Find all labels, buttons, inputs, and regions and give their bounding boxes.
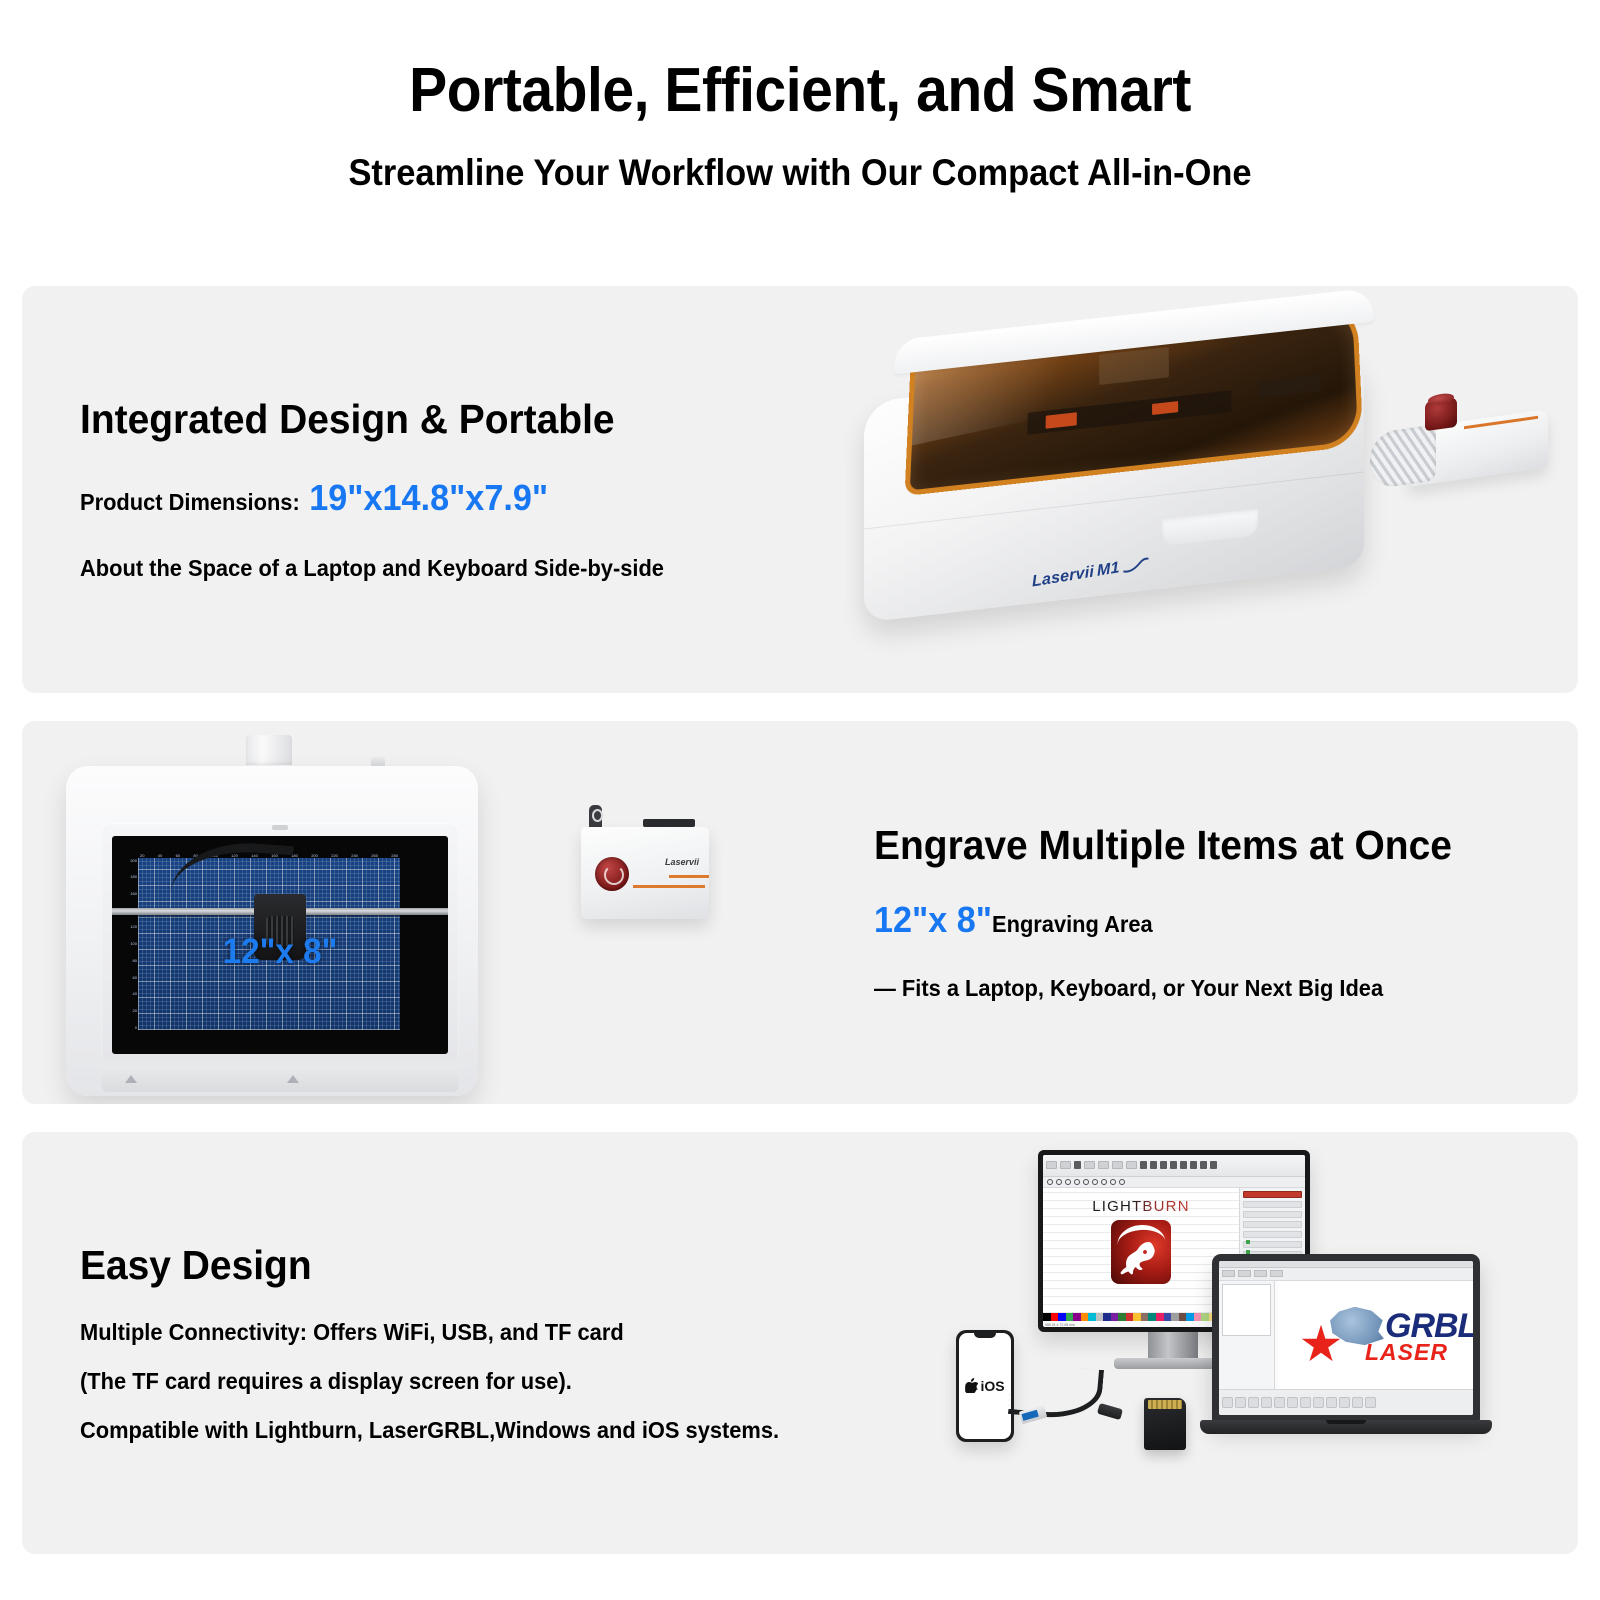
air-assist-accessory-image [1370,391,1556,507]
control-box-top-tab [643,819,695,827]
engrave-text-column: Engrave Multiple Items at Once 12"x 8" E… [874,822,1574,1002]
lightburn-toolbar [1043,1155,1305,1177]
laptop-trackpad-notch [1326,1420,1366,1424]
lightburn-status-text: 980.01 x 72.08 mm [1045,1323,1075,1327]
brand-model-text: M1 [1097,559,1121,581]
control-box-accessory-image: Laservii [567,799,727,949]
laser-head-cable [170,838,294,902]
easy-design-title: Easy Design [80,1242,861,1289]
jog-button [1365,1397,1376,1408]
control-box-orange-stripe [633,885,705,888]
air-assist-red-knob [1425,396,1457,430]
lasergrbl-logo: GRBL LASER [1301,1303,1451,1367]
lightburn-dragon-logo [1111,1220,1171,1284]
usb-c-connector-icon [1097,1403,1123,1420]
ellipse-icon [1074,1179,1080,1185]
software-compatibility-image: LIGHTBURN [948,1150,1548,1540]
laser-engraver-isometric-image: Laservii M1 [836,314,1396,614]
tf-card-icon [1144,1398,1186,1450]
product-dimensions-value: 19"x14.8"x7.9" [309,477,548,519]
ruler-tick: 160 [130,891,137,896]
lasergrbl-toolbar [1219,1268,1473,1281]
control-box-brand-text: Laservii [665,857,699,867]
jog-button [1274,1397,1285,1408]
feature-card-list: Integrated Design & Portable Product Dim… [0,286,1600,1554]
lasergrbl-screen: GRBL LASER [1219,1261,1473,1415]
engraver-lid-latch [272,825,288,830]
ruler-tick: 40 [133,991,137,996]
jog-button [1287,1397,1298,1408]
ruler-tick: 0 [135,1025,137,1030]
page-subtitle: Streamline Your Workflow with Our Compac… [56,152,1544,194]
engraving-area-overlay-label: 12"x 8" [120,932,439,972]
pointer-icon [1047,1179,1053,1185]
rectangle-icon [1065,1179,1071,1185]
monitor-neck [1148,1332,1198,1358]
jog-button [1313,1397,1324,1408]
portable-title: Integrated Design & Portable [80,396,747,443]
ruler-tick: 220 [331,853,338,858]
ruler-tick: 120 [130,924,137,929]
laser-wordmark: LASER [1365,1339,1448,1366]
offset-icon [1110,1179,1116,1185]
ruler-tick: 40 [158,853,162,858]
ruler-tick: 200 [311,853,318,858]
product-dimensions-label: Product Dimensions: [80,489,300,516]
ruler-tick: 20 [140,853,144,858]
product-dimensions-row: Product Dimensions: 19"x14.8"x7.9" [80,477,747,519]
lightburn-wordmark: LIGHTBURN [1092,1198,1189,1215]
engraver-exhaust-port [246,735,292,765]
design-text-column: Easy Design Multiple Connectivity: Offer… [22,1242,902,1444]
engraving-area-row: 12"x 8" Engraving Area [874,899,1539,941]
lasergrbl-left-panel [1219,1281,1275,1389]
apple-icon [965,1378,978,1393]
jog-button [1235,1397,1246,1408]
jog-button [1339,1397,1350,1408]
ruler-tick: 200 [130,858,137,863]
emergency-stop-button-icon [595,857,629,891]
page-header: Portable, Efficient, and Smart Streamlin… [0,0,1600,194]
compatibility-line: Compatible with Lightburn, LaserGRBL,Win… [80,1417,861,1444]
ios-label: iOS [980,1378,1004,1394]
laptop: GRBL LASER [1200,1254,1492,1438]
polygon-icon [1083,1179,1089,1185]
boolean-icon [1119,1179,1125,1185]
feature-card-portable: Integrated Design & Portable Product Dim… [22,286,1578,693]
jog-button [1222,1397,1233,1408]
smartphone: iOS [956,1330,1014,1442]
brand-swoosh-icon [1122,556,1149,574]
jog-button [1326,1397,1337,1408]
engraver-front-panel [101,1066,459,1092]
engrave-note: — Fits a Laptop, Keyboard, or Your Next … [874,975,1539,1002]
control-box-hook [589,805,602,829]
control-box-body: Laservii [581,827,709,919]
engraver-interior-window: 20 40 60 80 100 120 140 160 180 200 220 … [112,836,448,1054]
line-icon [1056,1179,1062,1185]
air-assist-vent-grille [1370,424,1436,489]
engraving-area-label: Engraving Area [992,911,1153,938]
phone-screen: iOS [959,1333,1011,1439]
ruler-tick: 180 [130,874,137,879]
control-box-orange-stripe-upper [669,875,709,878]
tf-card-note-line: (The TF card requires a display screen f… [80,1368,861,1395]
node-edit-icon [1101,1179,1107,1185]
ruler-tick: 240 [351,853,358,858]
lasergrbl-canvas: GRBL LASER [1279,1281,1473,1389]
laptop-lid: GRBL LASER [1212,1254,1480,1422]
portable-text-column: Integrated Design & Portable Product Dim… [22,396,782,582]
engraver-front-shell: 20 40 60 80 100 120 140 160 180 200 220 … [66,766,478,1096]
portable-note: About the Space of a Laptop and Keyboard… [80,555,747,582]
lock-icon [1074,1161,1081,1169]
jog-button [1261,1397,1272,1408]
jog-button [1300,1397,1311,1408]
engrave-title: Engrave Multiple Items at Once [874,822,1539,869]
ruler-tick: 280 [391,853,398,858]
ruler-tick: 260 [371,853,378,858]
connectivity-line: Multiple Connectivity: Offers WiFi, USB,… [80,1319,861,1346]
text-icon [1092,1179,1098,1185]
page-title: Portable, Efficient, and Smart [64,58,1536,124]
ruler-tick: 60 [133,975,137,980]
engraving-area-value: 12"x 8" [874,899,992,941]
phone-notch [974,1333,996,1338]
dragon-icon [1119,1236,1163,1280]
feature-card-easy-design: Easy Design Multiple Connectivity: Offer… [22,1132,1578,1554]
jog-button [1248,1397,1259,1408]
jog-button [1352,1397,1363,1408]
lasergrbl-titlebar [1219,1261,1473,1268]
laser-engraver-front-view-image: 20 40 60 80 100 120 140 160 180 200 220 … [58,731,498,1091]
lasergrbl-jog-panel [1219,1389,1473,1415]
ruler-tick: 20 [133,1008,137,1013]
ruler-tick: 60 [176,853,180,858]
lightburn-draw-tools [1043,1177,1305,1188]
feature-card-engrave: 20 40 60 80 100 120 140 160 180 200 220 … [22,721,1578,1104]
